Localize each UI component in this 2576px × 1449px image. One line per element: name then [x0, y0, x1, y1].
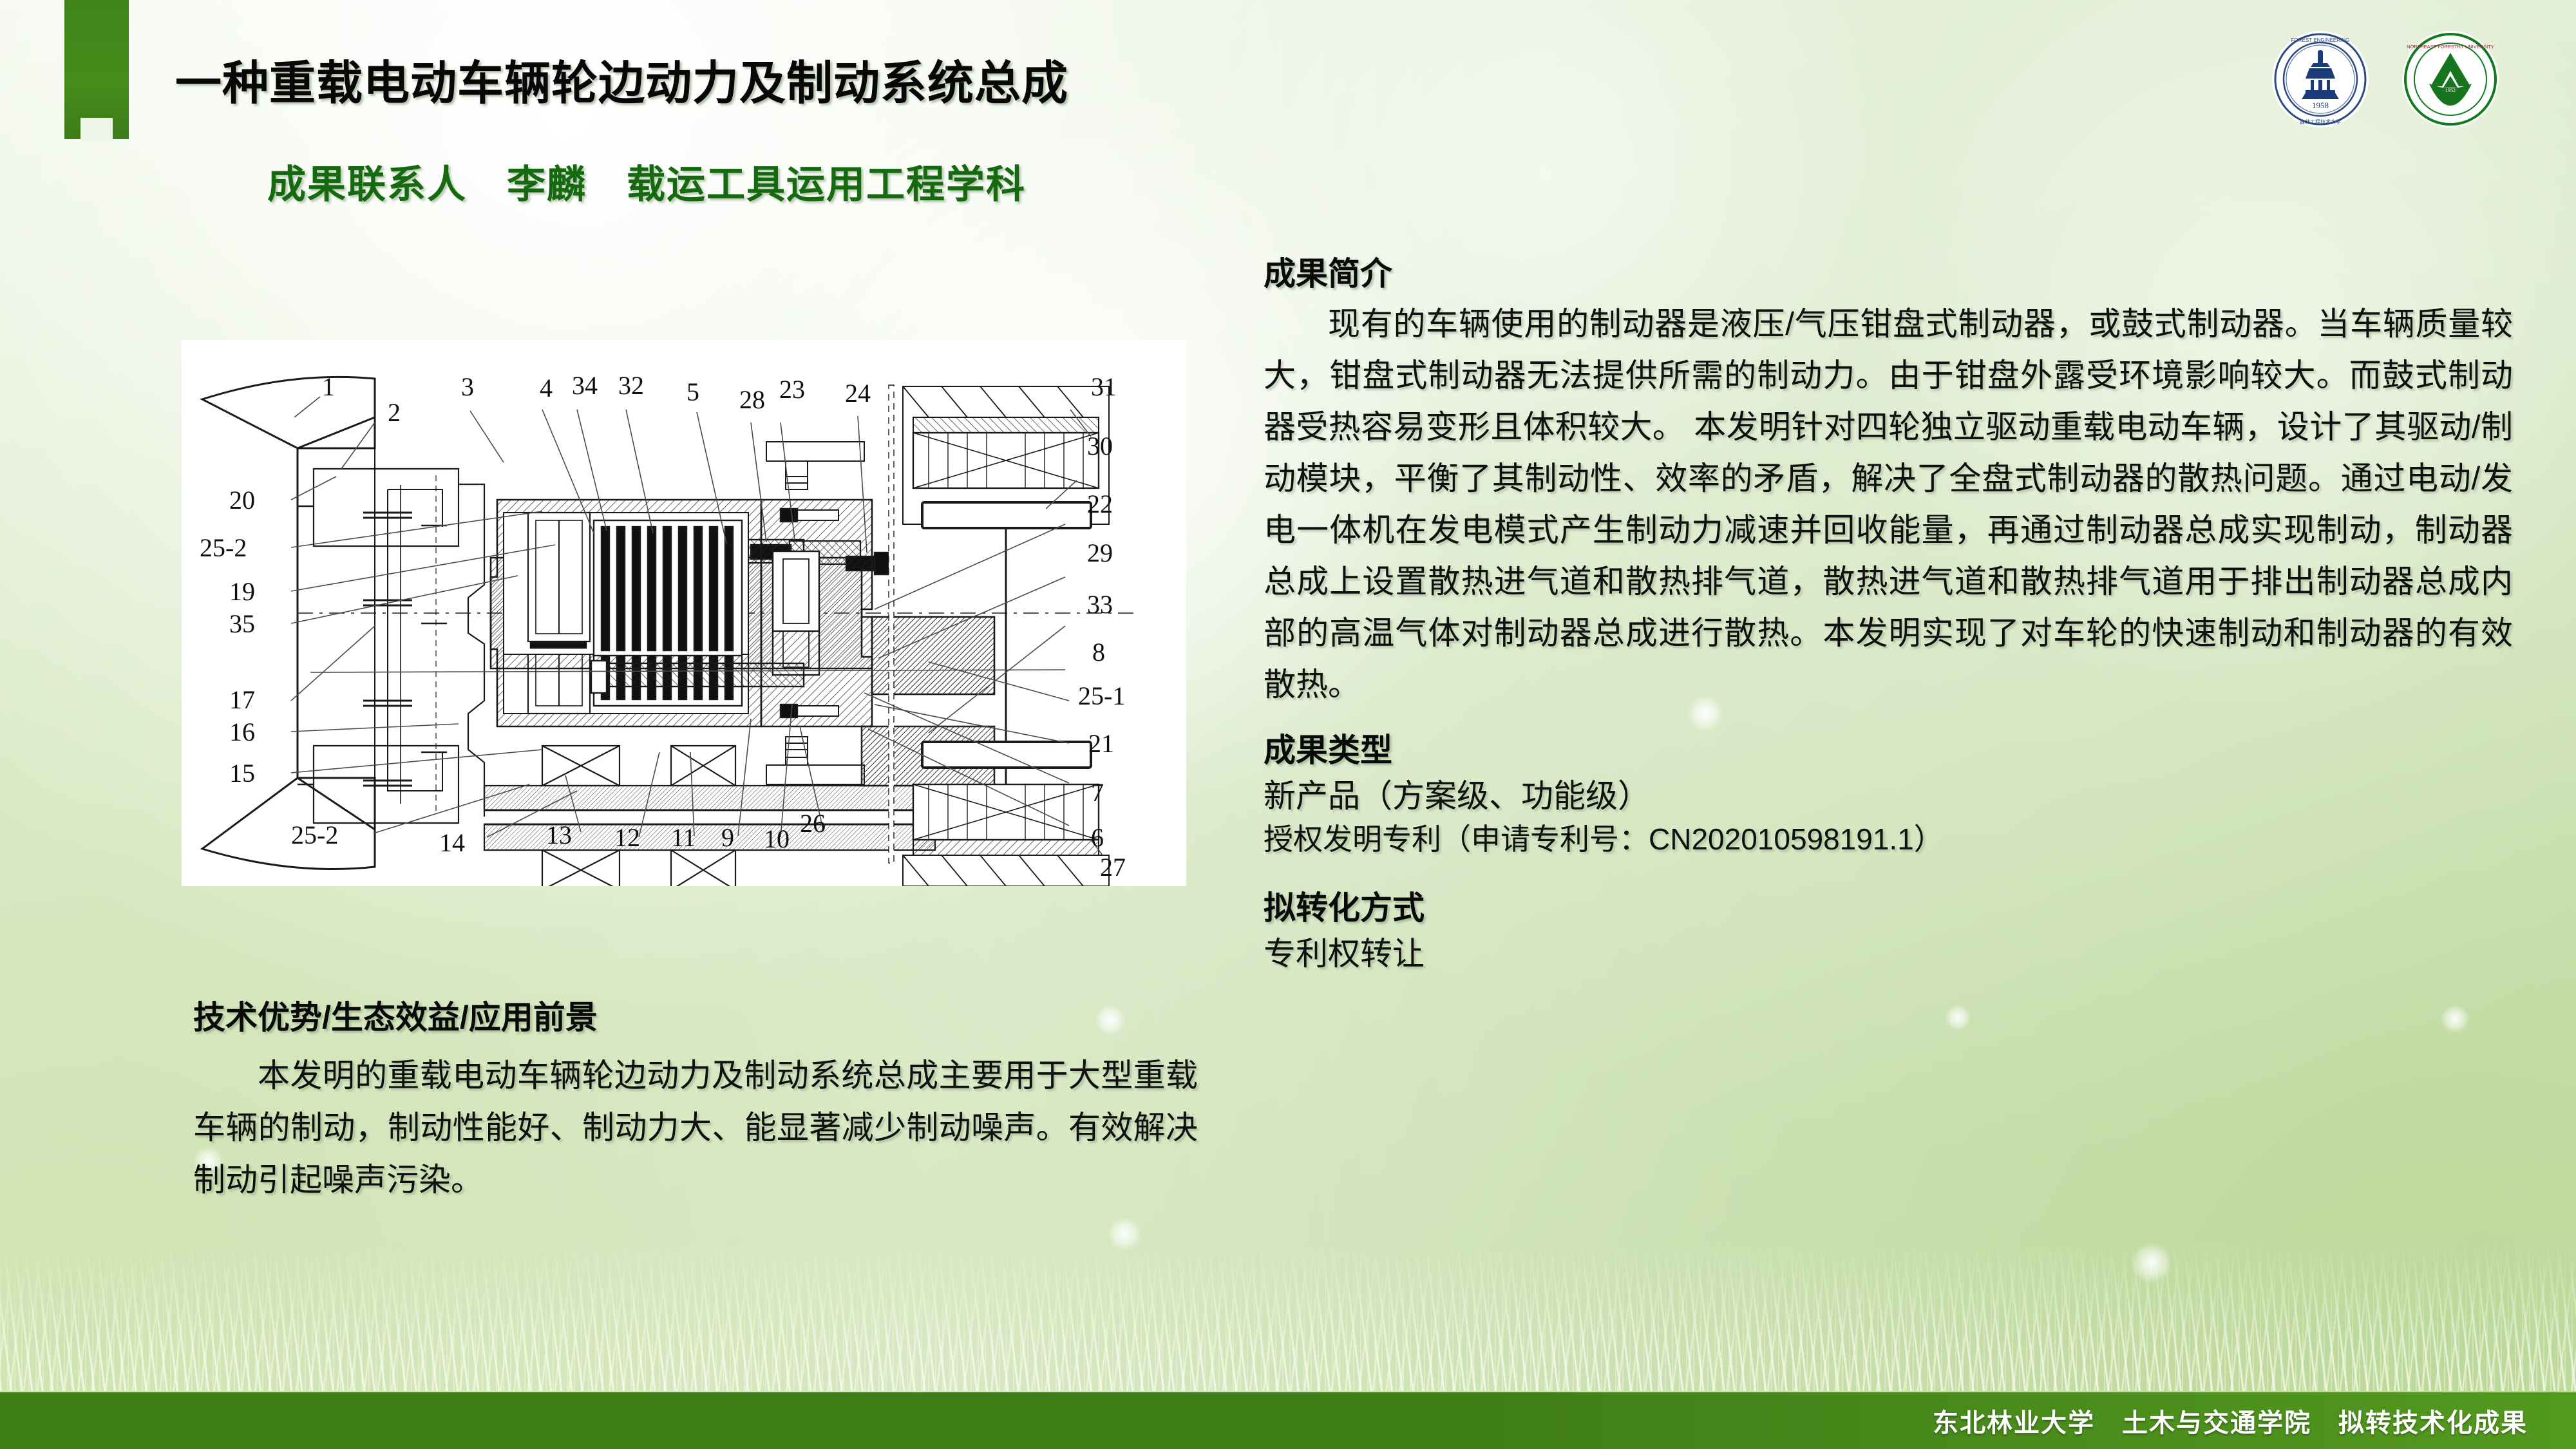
intro-heading: 成果简介 — [1264, 248, 2513, 294]
svg-text:31: 31 — [1091, 372, 1117, 401]
svg-text:7: 7 — [1091, 778, 1104, 807]
logo-group: 1958 FOREST ENGINEERING 森林工程技术大学 1952 NO… — [2272, 31, 2499, 128]
svg-text:21: 21 — [1088, 729, 1114, 758]
svg-text:4: 4 — [540, 374, 553, 402]
svg-text:26: 26 — [800, 809, 826, 838]
footer-bar: 东北林业大学 土木与交通学院 拟转技术化成果 — [0, 1392, 2576, 1449]
transfer-mode-value: 专利权转让 — [1264, 933, 2513, 975]
grass-silhouette — [0, 1243, 2576, 1391]
result-type-heading: 成果类型 — [1264, 724, 2513, 771]
svg-text:10: 10 — [764, 824, 790, 853]
accent-bar-notch — [80, 118, 113, 141]
footer-text: 东北林业大学 土木与交通学院 拟转技术化成果 — [1933, 1402, 2576, 1439]
page-title: 一种重载电动车辆轮边动力及制动系统总成 — [175, 45, 2139, 113]
svg-text:33: 33 — [1087, 590, 1113, 619]
svg-text:NORTHEAST FORESTRY UNIVERSITY: NORTHEAST FORESTRY UNIVERSITY — [2407, 44, 2494, 50]
svg-text:32: 32 — [618, 371, 644, 400]
svg-text:25-2: 25-2 — [291, 820, 338, 849]
left-section-body: 本发明的重载电动车辆轮边动力及制动系统总成主要用于大型重载车辆的制动，制动性能好… — [193, 1050, 1198, 1206]
contact-subtitle: 成果联系人 李麟 载运工具运用工程学科 — [267, 153, 2006, 209]
forest-engineering-university-logo: 1958 FOREST ENGINEERING 森林工程技术大学 — [2272, 31, 2369, 128]
svg-text:23: 23 — [779, 375, 805, 404]
svg-text:19: 19 — [229, 577, 255, 606]
svg-text:2: 2 — [388, 398, 401, 427]
svg-text:森林工程技术大学: 森林工程技术大学 — [2300, 118, 2341, 125]
svg-text:22: 22 — [1087, 489, 1113, 518]
svg-text:3: 3 — [461, 372, 474, 401]
svg-text:FOREST ENGINEERING: FOREST ENGINEERING — [2291, 37, 2350, 43]
northeast-forestry-university-logo: 1952 NORTHEAST FORESTRY UNIVERSITY — [2402, 31, 2499, 128]
svg-text:35: 35 — [229, 609, 255, 638]
result-type-value: 新产品（方案级、功能级） — [1264, 775, 2513, 817]
svg-text:1952: 1952 — [2445, 88, 2456, 93]
right-column: 成果简介 现有的车辆使用的制动器是液压/气压钳盘式制动器，或鼓式制动器。当车辆质… — [1264, 248, 2513, 975]
svg-text:28: 28 — [739, 385, 765, 414]
svg-text:30: 30 — [1087, 431, 1113, 460]
svg-text:17: 17 — [229, 685, 255, 714]
svg-text:11: 11 — [671, 823, 696, 852]
transfer-mode-heading: 拟转化方式 — [1264, 882, 2513, 929]
svg-text:8: 8 — [1092, 638, 1105, 667]
svg-text:25-1: 25-1 — [1078, 681, 1125, 710]
svg-text:29: 29 — [1087, 538, 1113, 567]
svg-text:9: 9 — [721, 823, 734, 852]
svg-text:25-2: 25-2 — [200, 533, 247, 562]
svg-text:5: 5 — [687, 377, 699, 406]
svg-text:34: 34 — [572, 371, 598, 400]
svg-text:27: 27 — [1100, 853, 1126, 882]
svg-text:1: 1 — [322, 372, 335, 401]
svg-text:6: 6 — [1091, 823, 1104, 852]
svg-text:24: 24 — [845, 379, 871, 408]
svg-text:20: 20 — [229, 486, 255, 515]
patent-figure-panel: 1 2 3 4 34 32 5 28 23 24 31 30 22 29 33 … — [182, 340, 1186, 886]
patent-number-line: 授权发明专利（申请专利号：CN202010598191.1） — [1264, 820, 2513, 859]
svg-text:12: 12 — [614, 823, 640, 852]
svg-text:14: 14 — [439, 828, 465, 857]
svg-text:1958: 1958 — [2312, 100, 2329, 110]
svg-text:13: 13 — [546, 820, 572, 849]
svg-text:16: 16 — [229, 717, 255, 746]
left-section-heading: 技术优势/生态效益/应用前景 — [193, 992, 1198, 1038]
patent-cross-section-diagram: 1 2 3 4 34 32 5 28 23 24 31 30 22 29 33 … — [182, 340, 1186, 886]
intro-body: 现有的车辆使用的制动器是液压/气压钳盘式制动器，或鼓式制动器。当车辆质量较大，钳… — [1264, 298, 2513, 710]
svg-text:15: 15 — [229, 759, 255, 788]
